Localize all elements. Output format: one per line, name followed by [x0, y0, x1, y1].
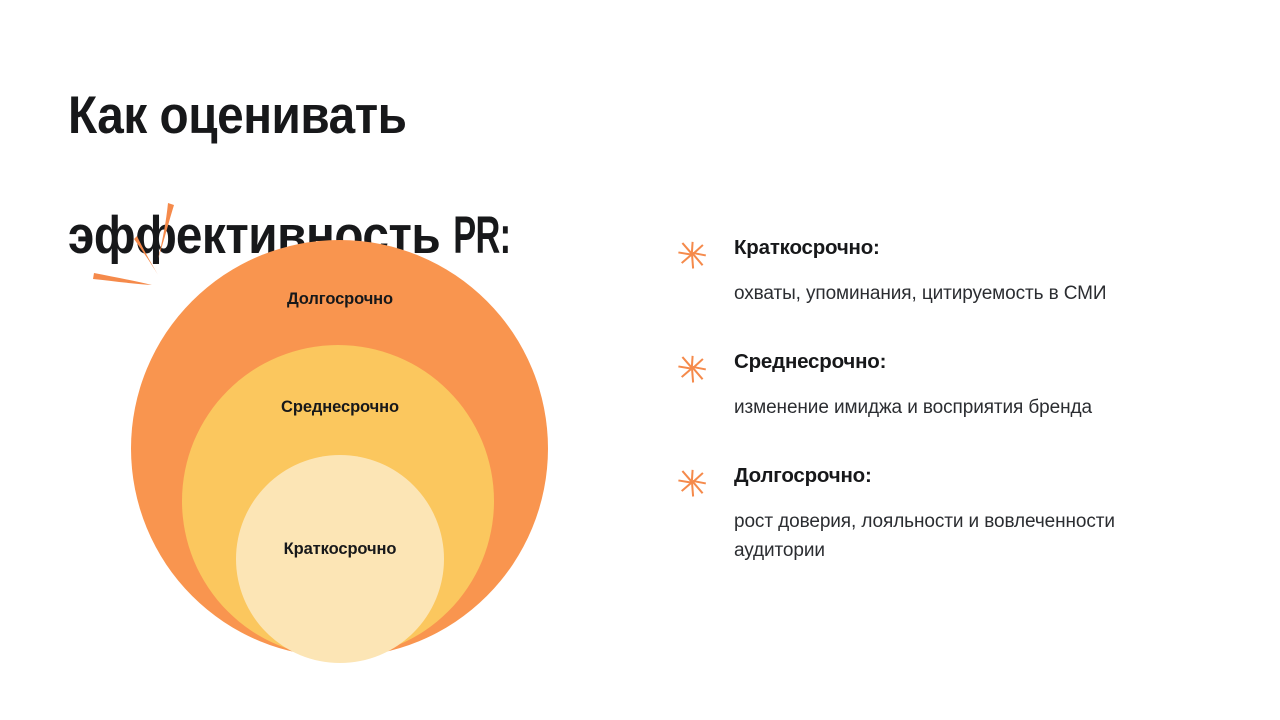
- asterisk-star-icon: [676, 467, 708, 499]
- list-item-heading: Среднесрочно:: [734, 350, 1216, 375]
- list-item: Среднесрочно: изменение имиджа и восприя…: [676, 350, 1216, 422]
- ring-short-term: [236, 455, 444, 663]
- burst-lines-icon: [90, 195, 230, 325]
- asterisk-star-icon: [676, 239, 708, 271]
- list-item-heading: Краткосрочно:: [734, 236, 1216, 261]
- asterisk-star-icon: [676, 353, 708, 385]
- list-item-heading: Долгосрочно:: [734, 464, 1216, 489]
- ring-mid-term-label: Среднесрочно: [90, 398, 590, 417]
- list-item-body: изменение имиджа и восприятия бренда: [734, 393, 1154, 422]
- nested-circles-diagram: Долгосрочно Среднесрочно Краткосрочно: [90, 195, 590, 675]
- ring-short-term-label: Краткосрочно: [90, 540, 590, 559]
- list-item: Долгосрочно: рост доверия, лояльности и …: [676, 464, 1216, 565]
- page-title-line-1: Как оценивать: [68, 86, 662, 146]
- list-item: Краткосрочно: охваты, упоминания, цитиру…: [676, 236, 1216, 308]
- pr-metrics-list: Краткосрочно: охваты, упоминания, цитиру…: [676, 236, 1216, 566]
- list-item-body: охваты, упоминания, цитируемость в СМИ: [734, 279, 1154, 308]
- list-item-body: рост доверия, лояльности и вовлеченности…: [734, 507, 1154, 566]
